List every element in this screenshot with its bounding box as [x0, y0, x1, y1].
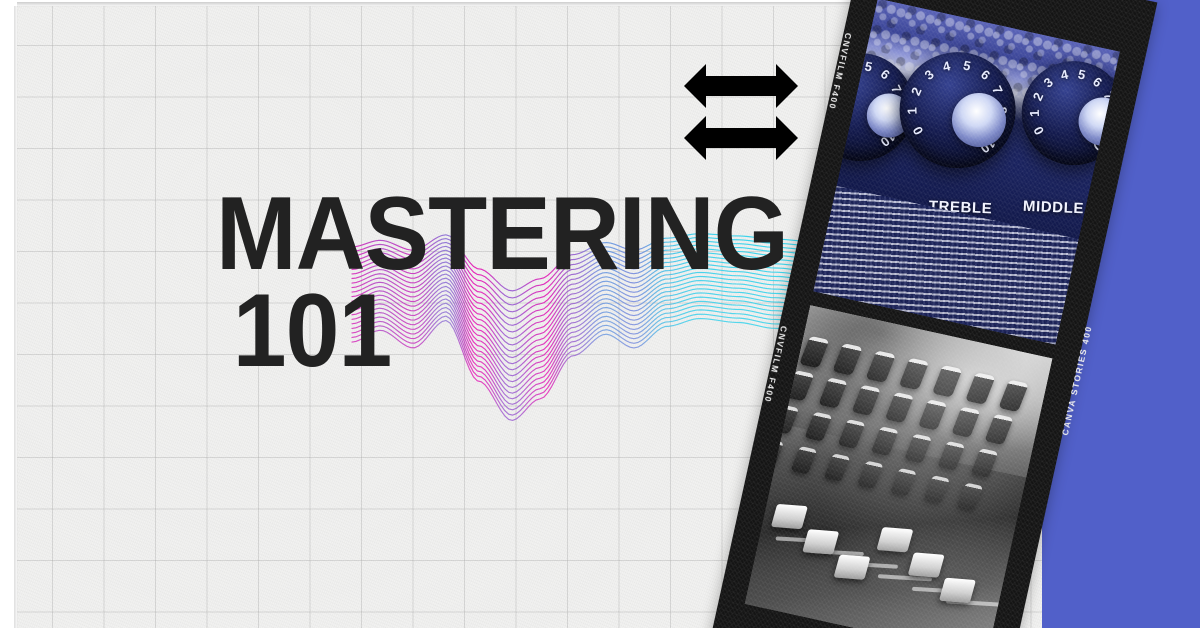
- mixer-fader-cap: [908, 553, 945, 578]
- mixer-knob: [984, 414, 1013, 445]
- poster-canvas: MASTERING 101 CNVFILM F400 CNVFILM F400 …: [0, 0, 1200, 628]
- mixer-knob: [923, 476, 950, 505]
- mixer-knob: [904, 434, 932, 464]
- amplifier-photo-image: 012345678910 012345678910 012345678910 V…: [813, 0, 1120, 345]
- mixer-knob: [804, 412, 832, 442]
- mixer-knob: [965, 373, 996, 406]
- mixer-fader-cap: [802, 530, 839, 555]
- amp-knob-treble-cap: [947, 88, 1011, 152]
- mixer-knob: [871, 427, 899, 457]
- mixer-knob: [771, 405, 799, 435]
- mixer-knob: [757, 439, 784, 468]
- repeat-loop-icon: [684, 64, 798, 160]
- mixer-fader-cap: [833, 555, 870, 580]
- mixer-knob: [932, 365, 963, 398]
- headline-line-1: MASTERING: [216, 186, 700, 283]
- amp-knob-middle-cap: [1074, 93, 1120, 150]
- mixer-knob: [899, 358, 930, 391]
- mixer-knob: [970, 449, 998, 479]
- mixer-knob: [885, 392, 914, 423]
- mixing-console-photo: [745, 305, 1053, 628]
- mixer-fader-cap: [771, 504, 808, 529]
- mixer-knob: [890, 468, 917, 497]
- mixer-knob: [998, 380, 1029, 413]
- mixer-knob: [823, 454, 850, 483]
- mixer-knob: [956, 483, 983, 512]
- mixer-knob: [857, 461, 884, 490]
- amp-label-middle: MIDDLE: [1023, 198, 1085, 218]
- mixer-knob: [818, 378, 847, 409]
- paper-left-edge: [14, 6, 18, 628]
- mixer-knob: [937, 441, 965, 471]
- mixer-knob: [790, 446, 817, 475]
- page-title: MASTERING 101: [216, 186, 700, 379]
- mixer-knob: [918, 400, 947, 431]
- mixer-fader-cap: [939, 578, 976, 603]
- headline-line-2: 101: [233, 283, 700, 380]
- mixer-knob: [832, 343, 863, 376]
- mixer-knob: [865, 351, 896, 384]
- mixer-knob: [951, 407, 980, 438]
- mixer-fader-cap: [876, 527, 913, 552]
- mixer-knob: [785, 370, 814, 401]
- mixer-knob: [837, 419, 865, 449]
- mixer-knob: [799, 336, 830, 369]
- mixer-knob: [851, 385, 880, 416]
- mixing-console-image: [745, 305, 1053, 628]
- amplifier-photo: 012345678910 012345678910 012345678910 V…: [813, 0, 1120, 345]
